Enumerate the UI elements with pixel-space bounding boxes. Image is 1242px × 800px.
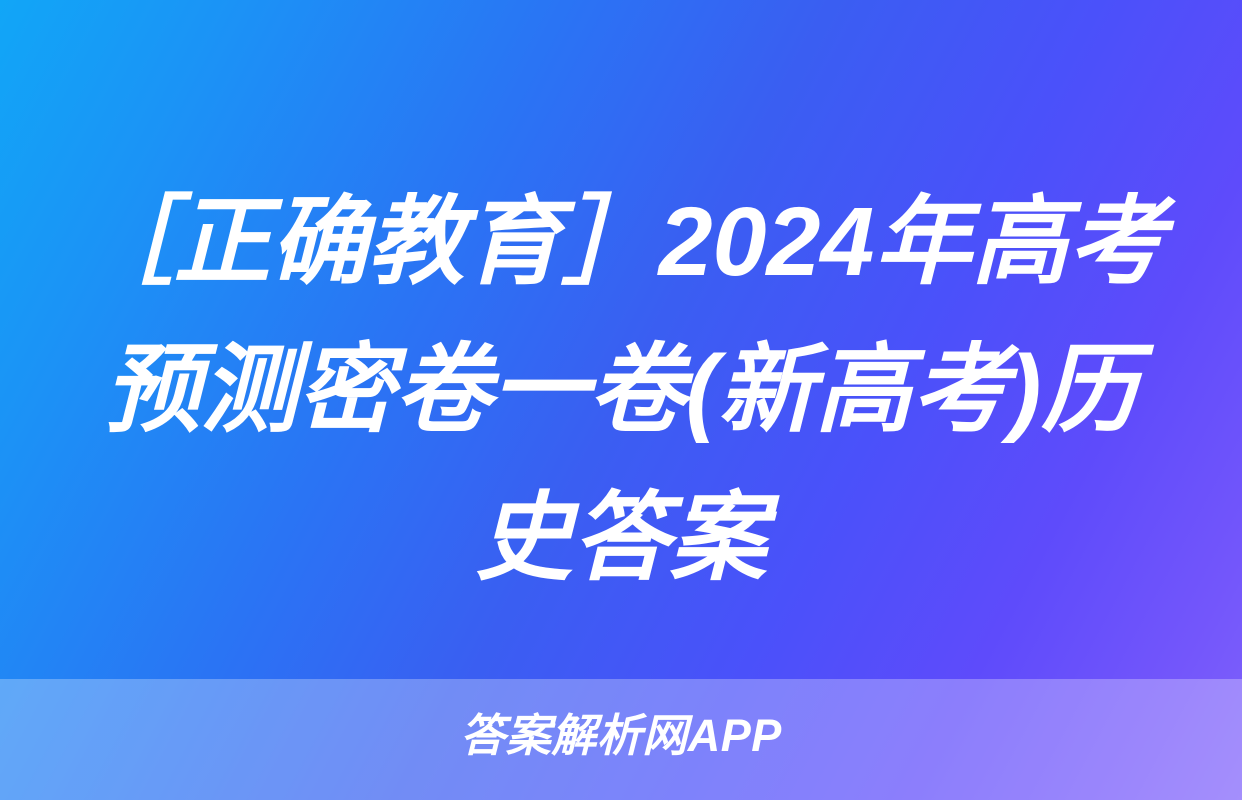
page-title: ［正确教育］2024年高考 预测密卷一卷(新高考)历 史答案 [0,168,1242,612]
watermark-label: 答案解析网APP [460,708,782,764]
watermark: 答案解析网APP [0,702,1242,770]
title-line-1: ［正确教育］2024年高考 [72,168,1170,316]
title-line-2: 预测密卷一卷(新高考)历 [72,316,1170,464]
title-line-3: 史答案 [72,464,1170,612]
cover-card: ［正确教育］2024年高考 预测密卷一卷(新高考)历 史答案 答案解析网APP [0,0,1242,800]
